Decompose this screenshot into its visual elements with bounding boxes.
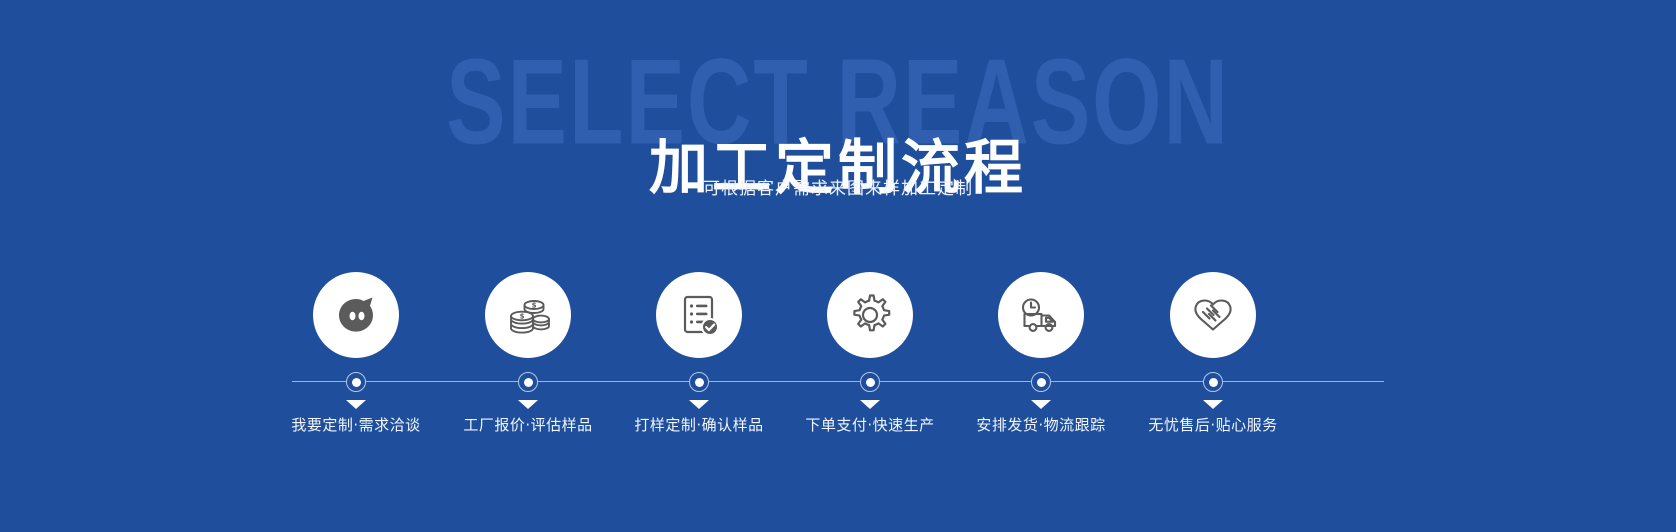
coin-stack-icon: $ $ <box>503 290 553 340</box>
gear-icon <box>845 290 895 340</box>
step-4-icon-circle <box>827 272 913 358</box>
step-2-icon-circle: $ $ <box>485 272 571 358</box>
heading-block: SELECT REASON 加工定制流程 可根据客户需求来图来样加工定制 <box>0 0 1676 230</box>
step-1-node <box>346 372 366 392</box>
process-step-4[interactable]: 下单支付·快速生产 <box>784 272 956 462</box>
step-1-icon-circle <box>313 272 399 358</box>
process-step-3[interactable]: 打样定制·确认样品 <box>613 272 785 462</box>
step-1-caret-icon <box>346 400 366 409</box>
step-5-node <box>1031 372 1051 392</box>
step-5-caret-icon <box>1031 400 1051 409</box>
step-2-caret-icon <box>518 400 538 409</box>
step-3-caret-icon <box>689 400 709 409</box>
delivery-truck-clock-icon <box>1016 290 1066 340</box>
step-4-node <box>860 372 880 392</box>
step-2-node <box>518 372 538 392</box>
svg-text:$: $ <box>532 302 537 310</box>
step-5-icon-circle <box>998 272 1084 358</box>
process-step-1[interactable]: 我要定制·需求洽谈 <box>270 272 442 462</box>
process-step-2[interactable]: $ $ 工厂报价·评估样品 <box>442 272 614 462</box>
step-6-icon-circle <box>1170 272 1256 358</box>
chat-bubble-icon <box>331 290 381 340</box>
svg-text:$: $ <box>520 313 525 321</box>
document-check-icon <box>674 290 724 340</box>
process-steps: 我要定制·需求洽谈 <box>288 272 1388 462</box>
process-step-6[interactable]: 无忧售后·贴心服务 <box>1127 272 1299 462</box>
step-3-icon-circle <box>656 272 742 358</box>
page-subtitle: 可根据客户需求来图来样加工定制 <box>0 177 1676 201</box>
select-reason-banner: SELECT REASON 加工定制流程 可根据客户需求来图来样加工定制 我要定… <box>0 0 1676 532</box>
step-4-caret-icon <box>860 400 880 409</box>
step-6-label: 无忧售后·贴心服务 <box>1107 414 1319 436</box>
step-6-caret-icon <box>1203 400 1223 409</box>
step-6-node <box>1203 372 1223 392</box>
handshake-icon <box>1188 290 1238 340</box>
process-step-5[interactable]: 安排发货·物流跟踪 <box>955 272 1127 462</box>
step-3-node <box>689 372 709 392</box>
